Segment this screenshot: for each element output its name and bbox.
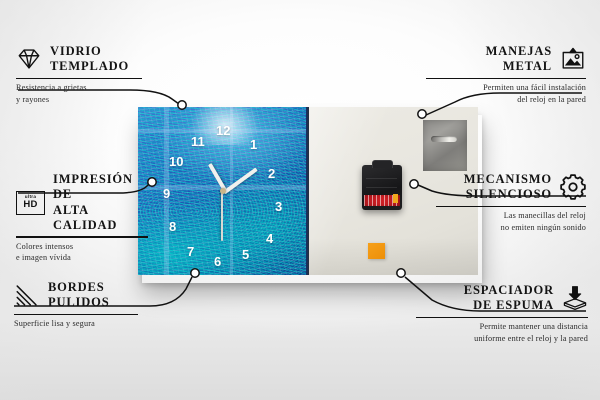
- feature-title: MANEJAS METAL: [486, 44, 552, 75]
- feature-divider: [416, 317, 588, 319]
- feature-divider: [426, 78, 586, 80]
- feature-vidrio-templado: VIDRIO TEMPLADO Resistencia a grietas y …: [16, 44, 142, 105]
- quartz-movement-box: [362, 165, 402, 210]
- movement-seam: [366, 178, 397, 179]
- feature-header: ultra HD IMPRESIÓN DE ALTA CALIDAD: [16, 172, 148, 233]
- feature-title: VIDRIO TEMPLADO: [50, 44, 129, 75]
- feature-espaciador-espuma: ESPACIADOR DE ESPUMA Permite mantener un…: [416, 283, 588, 344]
- diagonal-lines-icon: [14, 282, 40, 308]
- clock-numeral-8: 8: [169, 220, 176, 233]
- movement-hook-tab: [372, 160, 393, 168]
- clock-numeral-7: 7: [187, 245, 194, 258]
- feature-description: Resistencia a grietas y rayones: [16, 82, 142, 105]
- clock-numeral-2: 2: [268, 167, 275, 180]
- clock-numeral-9: 9: [163, 187, 170, 200]
- movement-seam: [366, 187, 397, 188]
- metal-hanger-plate: [423, 120, 467, 171]
- product-image: 12 1 2 3 4 5 6 7 8 9 10 11: [138, 107, 478, 275]
- feature-mecanismo-silencioso: MECANISMO SILENCIOSO Las manecillas del …: [436, 172, 586, 233]
- feature-impresion-alta-calidad: ultra HD IMPRESIÓN DE ALTA CALIDAD Color…: [16, 172, 148, 264]
- clock-front-face: 12 1 2 3 4 5 6 7 8 9 10 11: [138, 107, 308, 275]
- feature-title: ESPACIADOR DE ESPUMA: [464, 283, 554, 314]
- feature-title: MECANISMO SILENCIOSO: [464, 172, 552, 203]
- clock-numeral-3: 3: [275, 200, 282, 213]
- orange-foam-spacer: [368, 243, 385, 259]
- feature-title: BORDES PULIDOS: [48, 280, 110, 311]
- picture-frame-hanger-icon: [560, 46, 586, 72]
- feature-divider: [16, 236, 148, 238]
- feature-title: IMPRESIÓN DE ALTA CALIDAD: [53, 172, 148, 233]
- feature-description: Colores intensos e imagen vívida: [16, 241, 148, 264]
- feature-manejas-metal: MANEJAS METAL Permiten una fácil instala…: [426, 44, 586, 105]
- feature-description: Las manecillas del reloj no emiten ningú…: [436, 210, 586, 233]
- clock-numeral-5: 5: [242, 248, 249, 261]
- clock-numeral-11: 11: [191, 135, 205, 148]
- hanger-keyhole-slot: [431, 136, 457, 142]
- ultra-hd-icon: ultra HD: [16, 191, 45, 215]
- feature-description: Permite mantener una distancia uniforme …: [416, 321, 588, 344]
- feature-description: Permiten una fácil instalación del reloj…: [426, 82, 586, 105]
- clock-center-pin: [220, 188, 226, 194]
- feature-divider: [16, 78, 142, 80]
- feature-divider: [436, 206, 586, 208]
- clock-numeral-6: 6: [214, 255, 221, 268]
- feature-divider: [14, 314, 138, 316]
- infographic-root: 12 1 2 3 4 5 6 7 8 9 10 11: [0, 0, 600, 400]
- feature-description: Superficie lisa y segura: [14, 318, 138, 330]
- diamond-icon: [16, 46, 42, 72]
- feature-header: MECANISMO SILENCIOSO: [436, 172, 586, 203]
- clock-numeral-12: 12: [216, 124, 230, 137]
- down-arrow-stack-icon: [562, 285, 588, 311]
- clock-second-hand: [221, 191, 223, 241]
- feature-header: BORDES PULIDOS: [14, 280, 138, 311]
- clock-numeral-4: 4: [266, 232, 273, 245]
- clock-numeral-1: 1: [250, 138, 257, 151]
- clock-numeral-10: 10: [169, 155, 183, 168]
- feature-header: MANEJAS METAL: [426, 44, 586, 75]
- movement-red-label: [364, 195, 400, 206]
- gear-icon: [560, 174, 586, 200]
- movement-label-yellow-mark: [393, 194, 398, 203]
- feature-header: VIDRIO TEMPLADO: [16, 44, 142, 75]
- feature-bordes-pulidos: BORDES PULIDOS Superficie lisa y segura: [14, 280, 138, 330]
- feature-header: ESPACIADOR DE ESPUMA: [416, 283, 588, 314]
